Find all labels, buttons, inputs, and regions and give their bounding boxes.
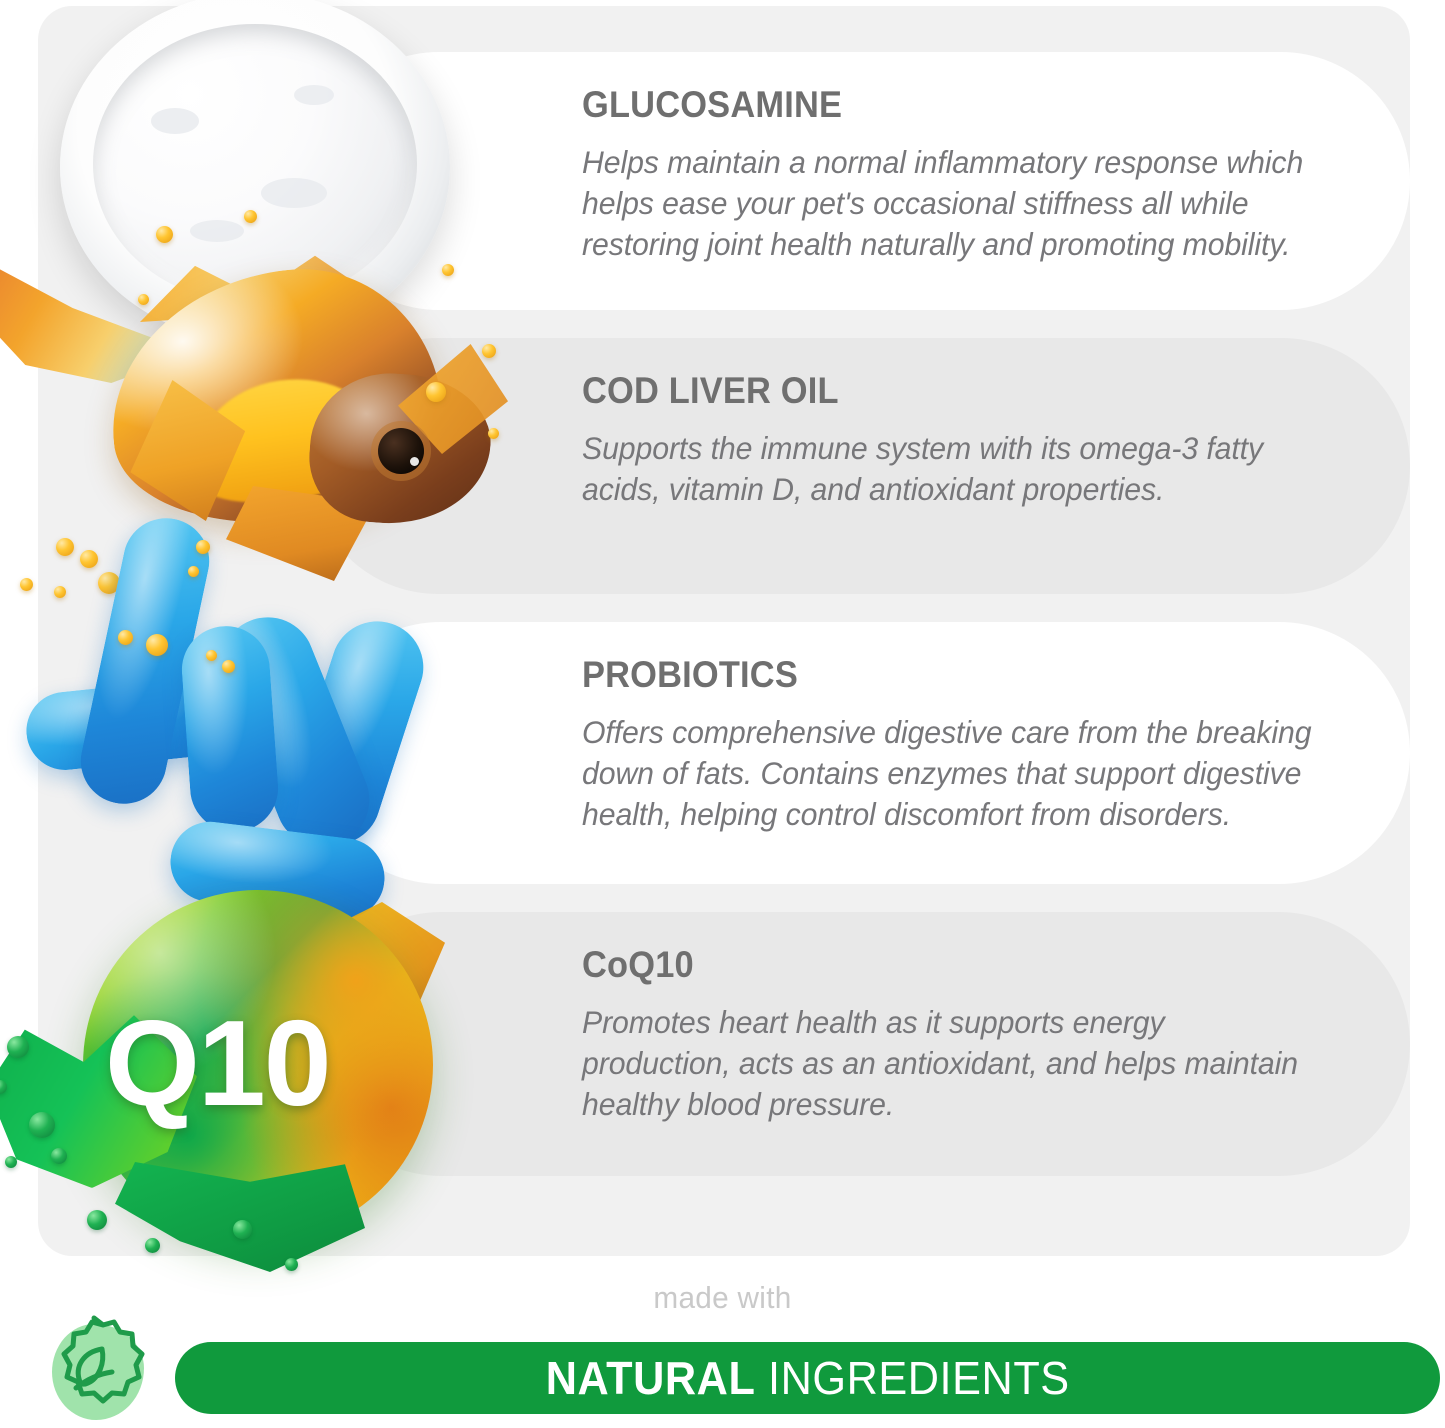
green-droplet — [7, 1036, 29, 1058]
oil-droplet — [206, 650, 217, 661]
card-description: Supports the immune system with its omeg… — [582, 428, 1312, 510]
bacteria-rod — [179, 623, 281, 835]
probiotic-bacteria-icon — [10, 508, 480, 928]
oil-droplet — [146, 634, 168, 656]
oil-droplet — [488, 428, 499, 439]
banner-bold-word: NATURAL — [546, 1352, 756, 1404]
green-droplet — [5, 1156, 17, 1168]
oil-droplet — [482, 344, 496, 358]
fish-eye — [378, 428, 424, 474]
oil-droplet — [118, 630, 133, 645]
oil-droplet — [442, 264, 454, 276]
oil-droplet — [80, 550, 98, 568]
green-droplet — [29, 1112, 55, 1138]
card-title: GLUCOSAMINE — [582, 86, 1307, 125]
green-droplet — [51, 1148, 67, 1164]
oil-droplet — [156, 226, 173, 243]
card-title: PROBIOTICS — [582, 656, 1307, 695]
footer: made with NATURAL INGREDIENTS — [0, 1258, 1445, 1424]
oil-droplet — [196, 540, 210, 554]
oil-droplet — [222, 660, 235, 673]
banner-light-word: INGREDIENTS — [755, 1352, 1069, 1404]
leaf-badge-icon — [36, 1312, 152, 1428]
green-droplet — [145, 1238, 160, 1253]
q10-label: Q10 — [105, 1002, 425, 1124]
natural-ingredients-banner[interactable]: NATURAL INGREDIENTS — [175, 1342, 1440, 1414]
coq10-sphere-icon: Q10 — [0, 880, 465, 1280]
ingredient-artwork-column: Q10 — [0, 0, 545, 1300]
green-droplet — [87, 1210, 107, 1230]
oil-droplet — [244, 210, 257, 223]
card-description: Promotes heart health as it supports ene… — [582, 1002, 1312, 1125]
card-title: COD LIVER OIL — [582, 372, 1307, 411]
made-with-label: made with — [29, 1280, 1416, 1316]
banner-text: NATURAL INGREDIENTS — [546, 1351, 1070, 1405]
oil-droplet — [138, 294, 149, 305]
card-description: Offers comprehensive digestive care from… — [582, 712, 1312, 835]
oil-droplet — [54, 586, 66, 598]
oil-droplet — [426, 382, 446, 402]
oil-droplet — [188, 566, 199, 577]
green-droplet — [233, 1220, 252, 1239]
card-description: Helps maintain a normal inflammatory res… — [582, 142, 1312, 265]
card-title: CoQ10 — [582, 946, 1307, 985]
